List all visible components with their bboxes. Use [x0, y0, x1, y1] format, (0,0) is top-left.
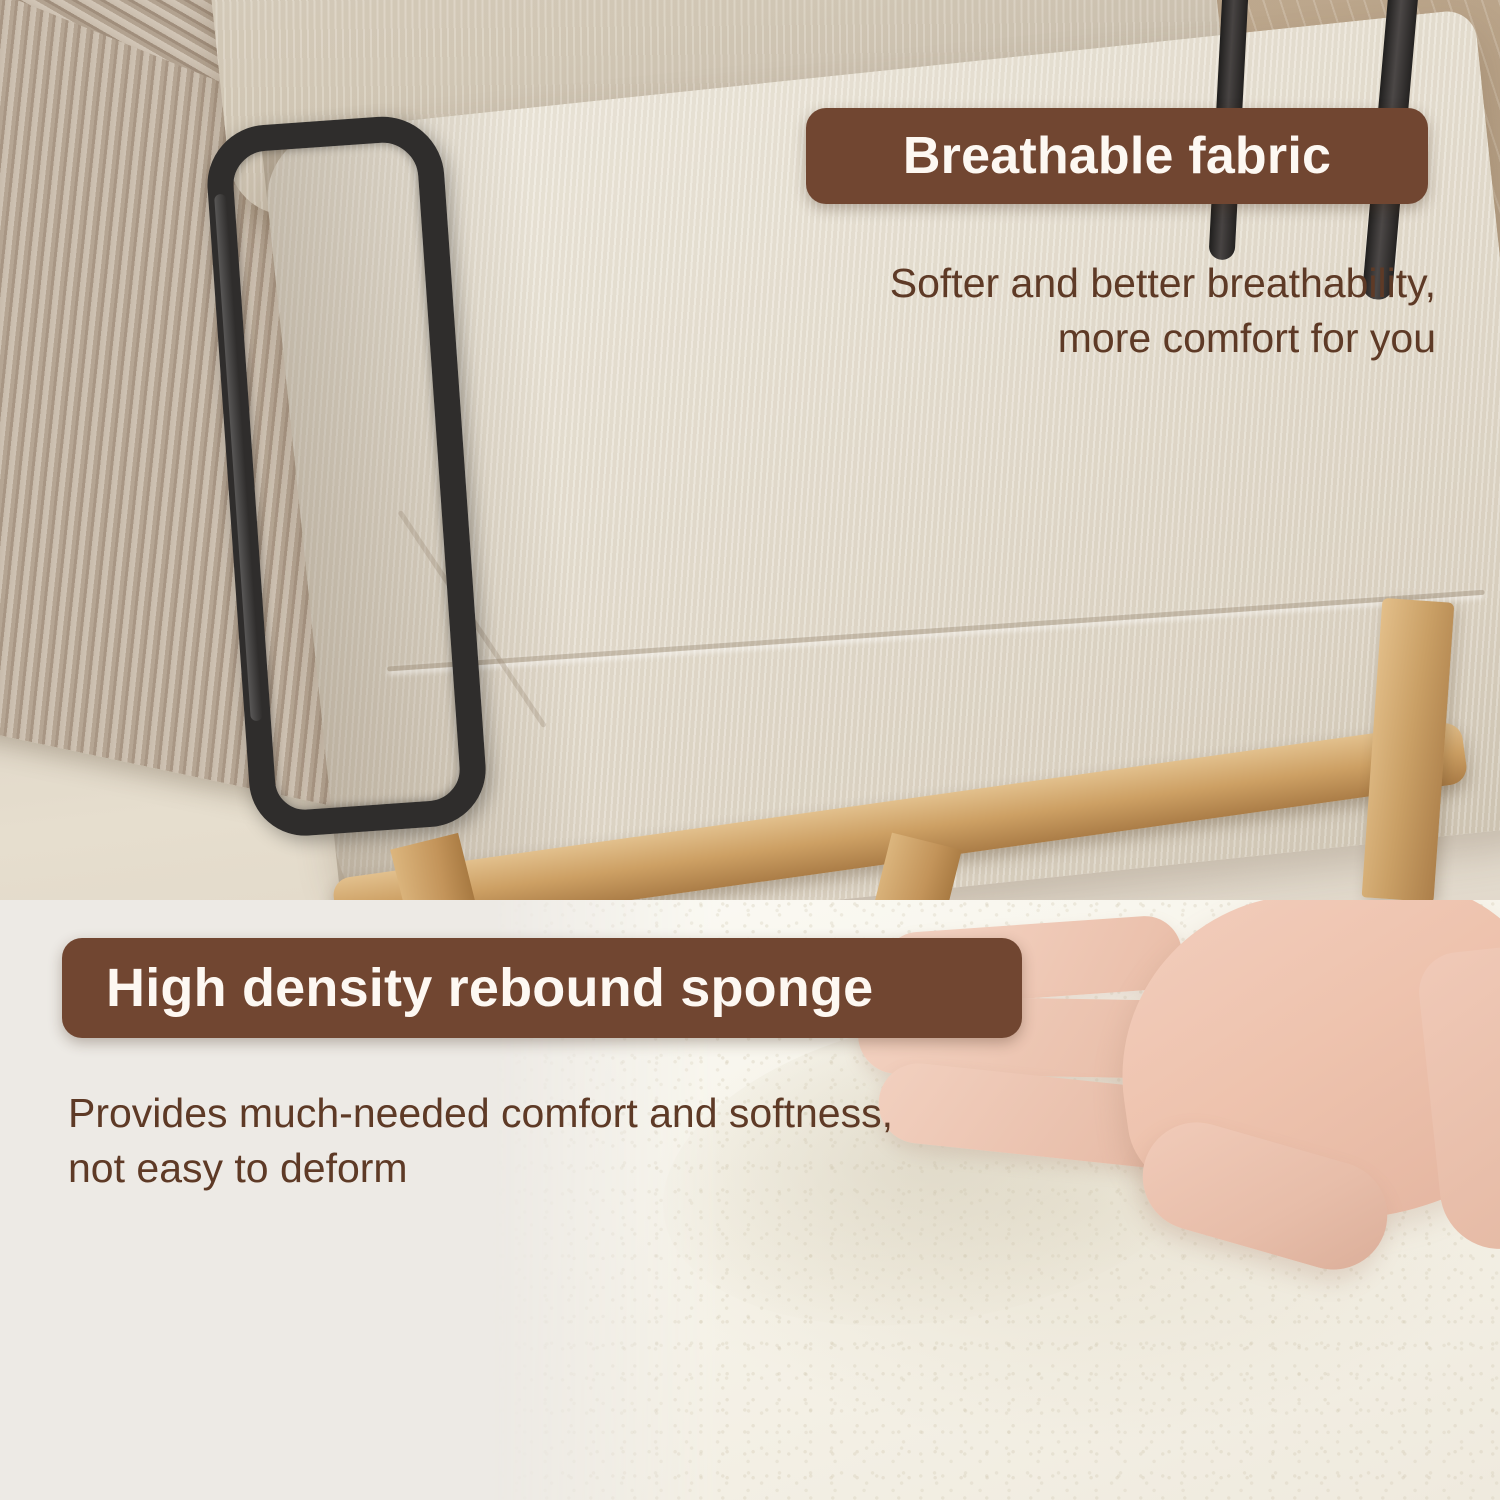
badge-breathable-fabric-label: Breathable fabric	[903, 126, 1331, 186]
badge-breathable-fabric: Breathable fabric	[806, 108, 1428, 204]
caption-breathable-fabric: Softer and better breathability, more co…	[890, 256, 1436, 367]
badge-high-density-rebound-sponge-label: High density rebound sponge	[106, 957, 873, 1019]
badge-high-density-rebound-sponge: High density rebound sponge	[62, 938, 1022, 1038]
metal-armrest-frame	[203, 113, 489, 840]
caption-high-density-rebound-sponge: Provides much-needed comfort and softnes…	[68, 1086, 893, 1197]
product-feature-infographic: Breathable fabric Softer and better brea…	[0, 0, 1500, 1500]
